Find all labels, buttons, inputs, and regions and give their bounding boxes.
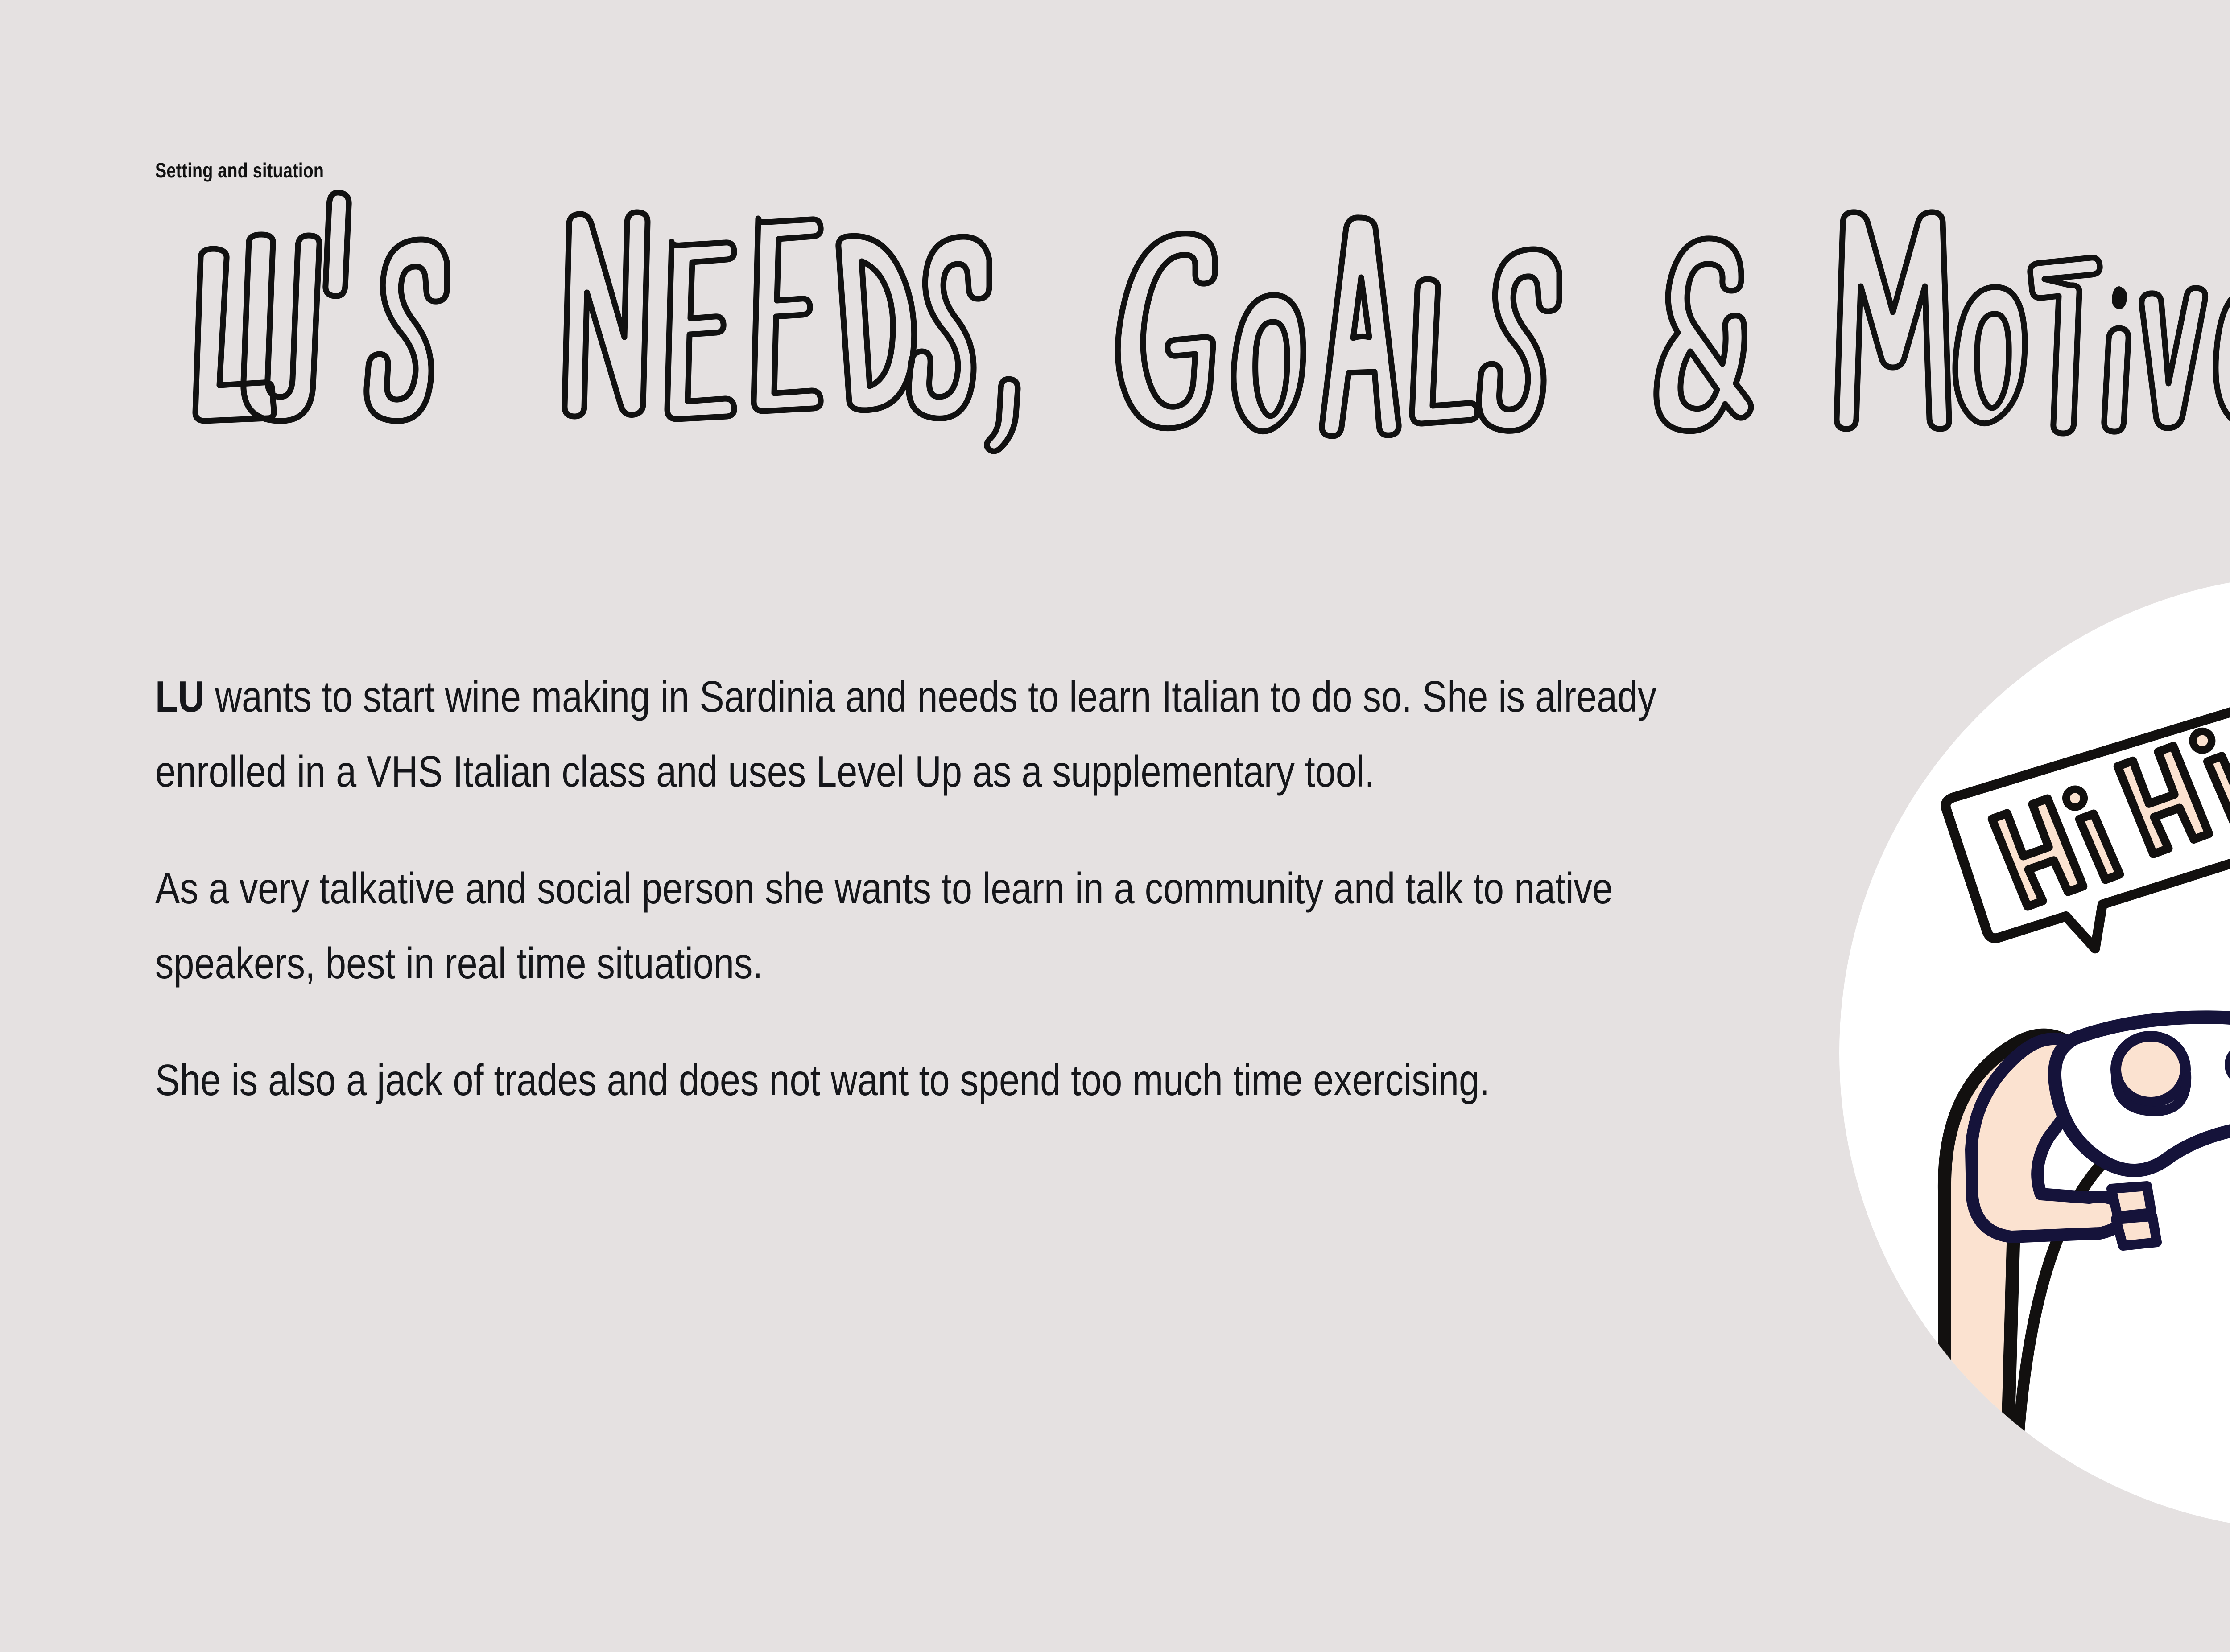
paragraph-1-text: wants to start wine making in Sardinia a… xyxy=(155,672,1656,796)
paragraph-3: She is also a jack of trades and does no… xyxy=(155,1042,1676,1117)
illustration-circle xyxy=(1839,574,2230,1531)
paragraph-1: LU wants to start wine making in Sardini… xyxy=(155,659,1676,809)
page-title-lettering xyxy=(192,232,2230,437)
illustration-artwork xyxy=(1839,574,2230,1531)
slide-kicker: Setting and situation xyxy=(155,158,324,182)
body-copy: LU wants to start wine making in Sardini… xyxy=(155,659,1681,1117)
speech-bubble-hihi xyxy=(1940,699,2230,975)
slide-canvas: Setting and situation xyxy=(0,0,2230,1652)
paragraph-2: As a very talkative and social person sh… xyxy=(155,851,1676,1001)
page-title xyxy=(192,232,2230,437)
lead-name: LU xyxy=(155,672,205,721)
